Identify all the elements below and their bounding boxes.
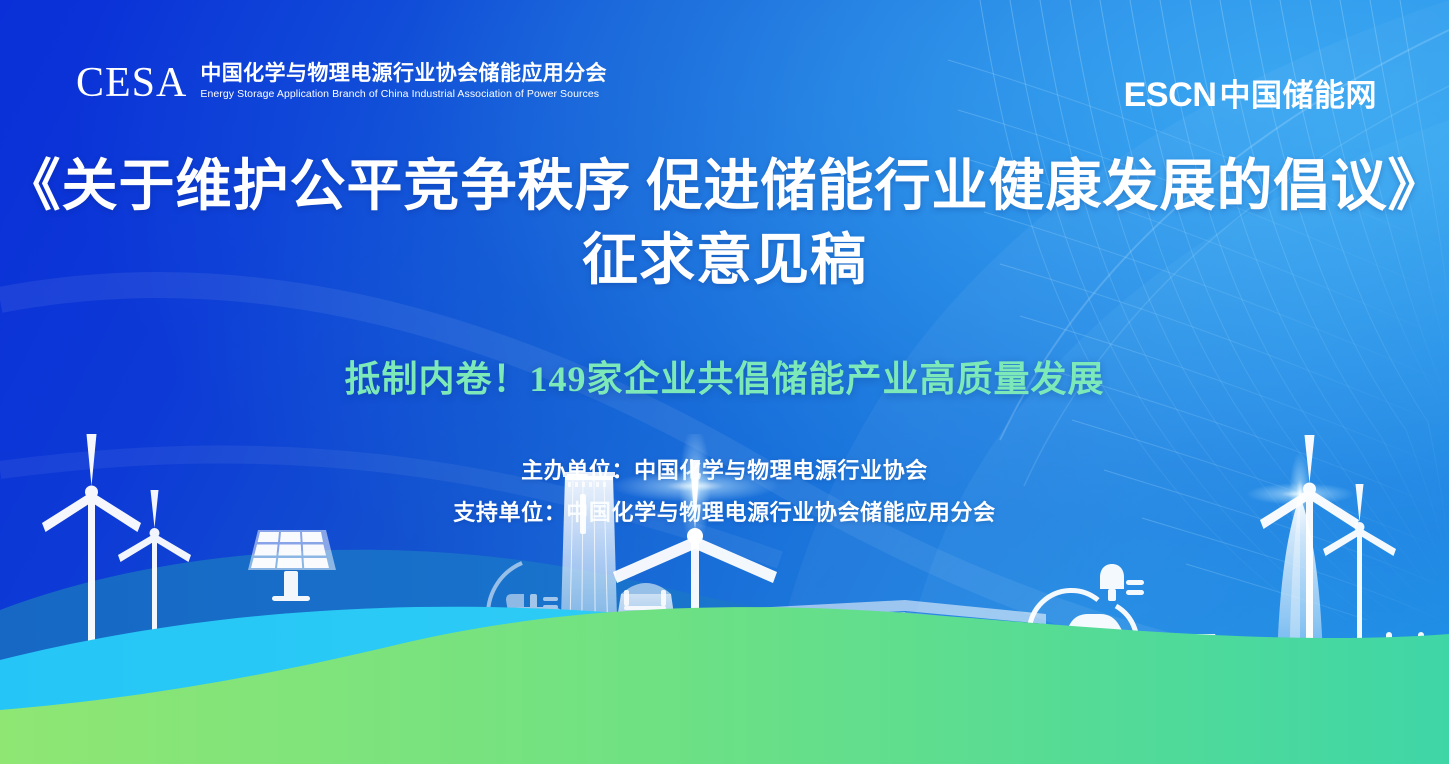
main-title-line1: 《关于维护公平竞争秩序 促进储能行业健康发展的倡议》 [5,156,1445,218]
main-title: 《关于维护公平竞争秩序 促进储能行业健康发展的倡议》 征求意见稿 [0,150,1449,298]
subtitle: 抵制内卷！149家企业共倡储能产业高质量发展 [0,350,1449,402]
banner-root: CESA 中国化学与物理电源行业协会储能应用分会 Energy Storage … [0,0,1449,764]
cesa-name-cn: 中国化学与物理电源行业协会储能应用分会 [200,62,607,86]
cesa-wordmark: CESA [76,64,187,104]
cesa-name-en: Energy Storage Application Branch of Chi… [200,88,607,102]
ev-plug-icon [1100,564,1144,601]
escn-wordmark-en: ESCN [1124,76,1217,115]
cesa-logo[interactable]: CESA 中国化学与物理电源行业协会储能应用分会 Energy Storage … [76,62,607,104]
escn-wordmark-cn: 中国储能网 [1220,70,1378,115]
main-title-line2: 征求意见稿 [0,224,1449,298]
illustration-scene [0,434,1449,764]
escn-logo[interactable]: ESCN 中国储能网 [1124,70,1377,115]
